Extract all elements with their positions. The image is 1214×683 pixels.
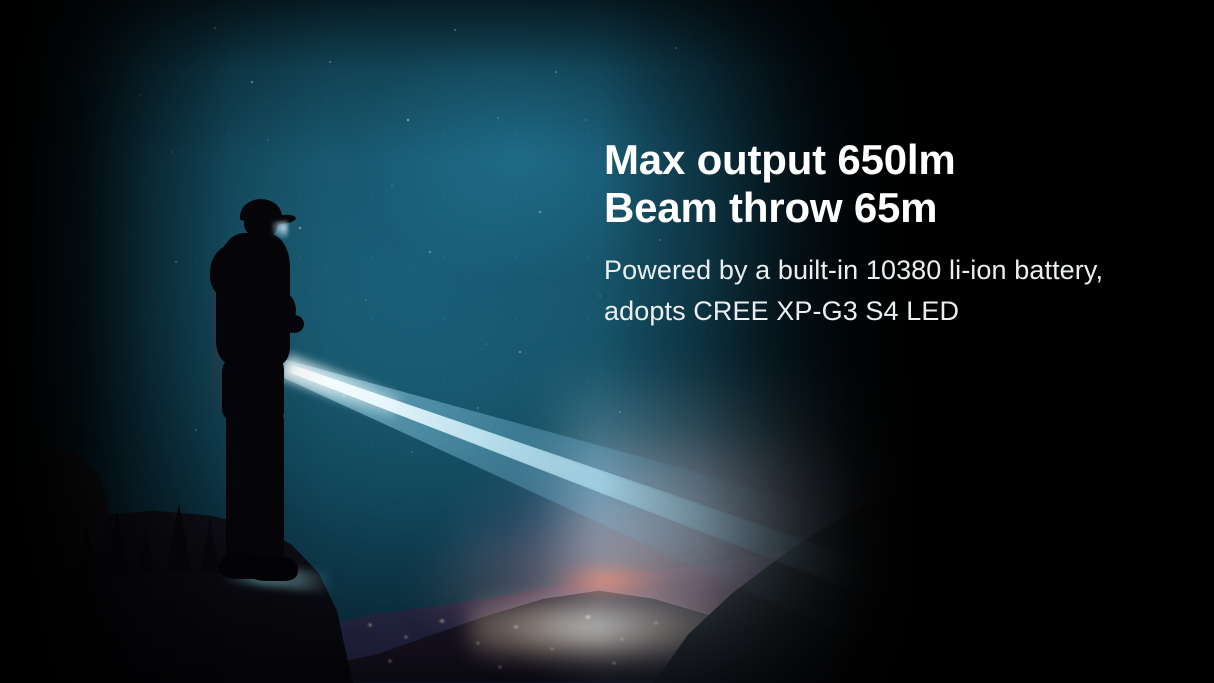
marketing-copy-block: Max output 650lm Beam throw 65m Powered … xyxy=(604,136,1164,332)
vignette-right xyxy=(0,0,1214,683)
headline-line-2: Beam throw 65m xyxy=(604,184,1164,232)
headline-line-1: Max output 650lm xyxy=(604,136,1164,184)
subtext-line-1: Powered by a built-in 10380 li-ion batte… xyxy=(604,250,1149,291)
subtext: Powered by a built-in 10380 li-ion batte… xyxy=(604,250,1149,332)
headline: Max output 650lm Beam throw 65m xyxy=(604,136,1164,232)
subtext-line-2: adopts CREE XP-G3 S4 LED xyxy=(604,291,1149,332)
night-scene-photo xyxy=(0,0,1214,683)
product-hero-banner: Max output 650lm Beam throw 65m Powered … xyxy=(0,0,1214,683)
